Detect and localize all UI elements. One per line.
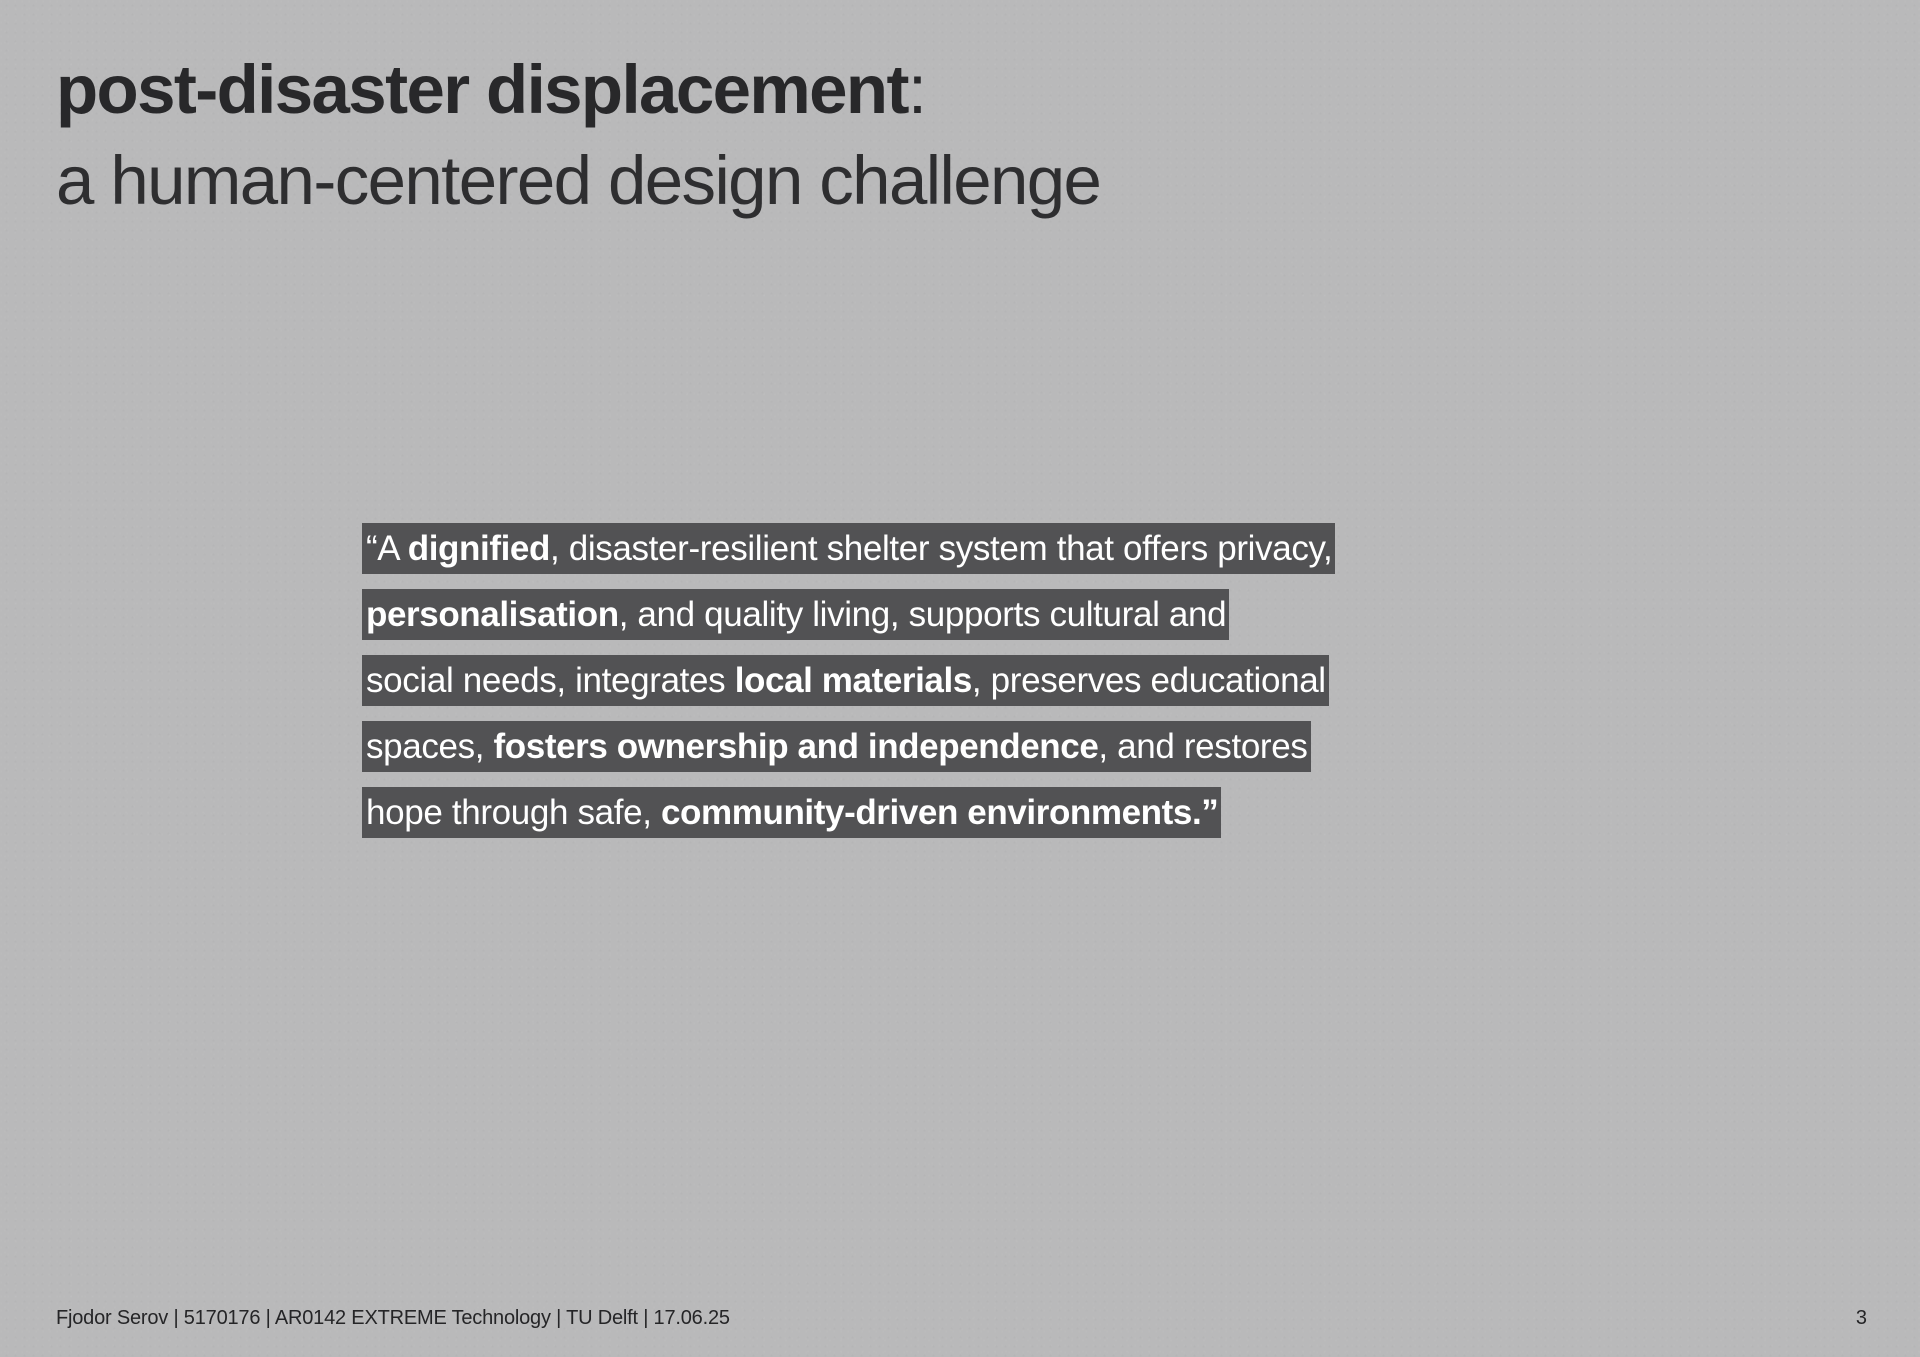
footer-metadata: Fjodor Serov | 5170176 | AR0142 EXTREME … <box>56 1307 730 1330</box>
quote-segment: , preserves educational <box>972 661 1326 700</box>
quote-line: social needs, integrates local materials… <box>362 651 1562 712</box>
presentation-slide: post-disaster displacement: a human-cent… <box>0 0 1920 1357</box>
quote-segment: “A <box>366 529 408 568</box>
highlighted-quote: “A dignified, disaster-resilient shelter… <box>362 519 1562 843</box>
quote-segment: , disaster-resilient shelter system that… <box>550 529 1332 568</box>
quote-segment-bold: dignified <box>408 529 550 568</box>
quote-segment: spaces, <box>366 727 494 766</box>
quote-line: personalisation, and quality living, sup… <box>362 585 1562 646</box>
quote-line: spaces, fosters ownership and independen… <box>362 717 1562 778</box>
title-colon: : <box>908 51 926 128</box>
quote-highlight-band: hope through safe, community-driven envi… <box>362 787 1221 838</box>
title-line-secondary: a human-centered design challenge <box>56 146 1100 215</box>
quote-highlight-band: “A dignified, disaster-resilient shelter… <box>362 523 1335 574</box>
quote-segment-bold: fosters ownership and independence <box>494 727 1099 766</box>
slide-title: post-disaster displacement: a human-cent… <box>56 55 1100 215</box>
quote-highlight-band: personalisation, and quality living, sup… <box>362 589 1229 640</box>
quote-highlight-band: social needs, integrates local materials… <box>362 655 1329 706</box>
title-line-primary: post-disaster displacement: <box>56 55 1100 124</box>
quote-segment-bold: local materials <box>735 661 972 700</box>
quote-highlight-band: spaces, fosters ownership and independen… <box>362 721 1311 772</box>
quote-segment: , and quality living, supports cultural … <box>619 595 1227 634</box>
quote-segment: , and restores <box>1098 727 1307 766</box>
quote-segment-bold: community-driven environments.” <box>661 793 1218 832</box>
quote-line: hope through safe, community-driven envi… <box>362 783 1562 844</box>
title-main-text: post-disaster displacement <box>56 51 908 128</box>
quote-segment: social needs, integrates <box>366 661 735 700</box>
quote-line: “A dignified, disaster-resilient shelter… <box>362 519 1562 580</box>
quote-segment-bold: personalisation <box>366 595 619 634</box>
quote-segment: hope through safe, <box>366 793 661 832</box>
page-number: 3 <box>1856 1307 1867 1330</box>
